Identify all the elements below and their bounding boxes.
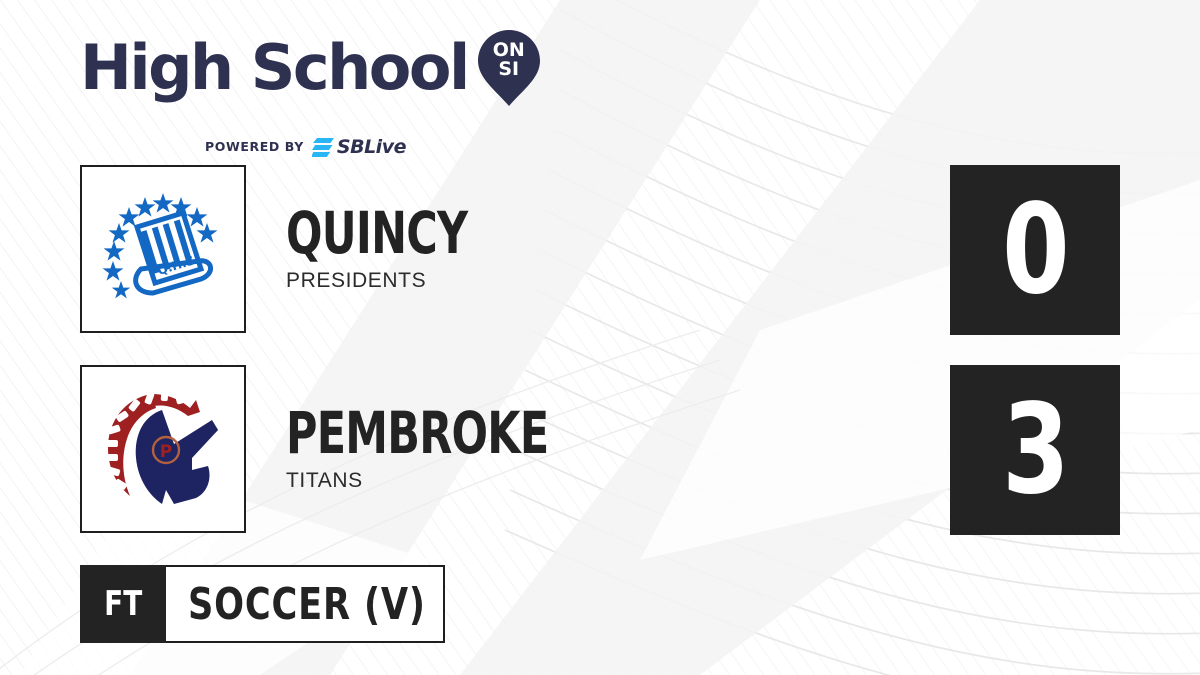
team-logo-quincy: Q.H.S. [80,165,246,333]
team-logo-pembroke: P [80,365,246,533]
team-info: QUINCY PRESIDENTS [286,165,531,333]
brand-header: High School ON SI POWERED BY SBLive [80,30,510,140]
team-info: PEMBROKE TITANS [286,365,641,533]
on-si-pin-icon: ON SI [478,30,540,106]
pin-label-si: SI [478,60,540,79]
team-mascot: PRESIDENTS [286,269,531,293]
status-badge-label: FT [104,584,142,624]
team-score-box: 0 [950,165,1120,335]
team-mascot: TITANS [286,469,641,493]
page-title: High School [80,37,468,99]
sport-label: SOCCER (V) [188,579,426,630]
sblive-logo: SBLive [312,138,406,157]
team-name: PEMBROKE [286,405,548,461]
powered-by: POWERED BY SBLive [205,137,406,157]
svg-text:P: P [160,442,172,462]
team-score-box: 3 [950,365,1120,535]
quincy-top-hat-logo-icon: Q.H.S. [97,183,229,315]
team-name: QUINCY [286,205,467,261]
sblive-wordmark: SBLive [337,138,406,157]
pembroke-titan-helmet-logo-icon: P [100,386,226,512]
game-status-bar: FT SOCCER (V) [80,565,445,643]
team-row: Q.H.S. QUINCY PRESIDENTS [80,165,940,335]
status-badge: FT [80,565,166,643]
scoreboard: High School ON SI POWERED BY SBLive [0,0,1200,675]
team-row: P PEMBROKE TITANS [80,365,940,535]
sport-label-panel: SOCCER (V) [166,565,445,643]
sblive-s-mark-icon [312,138,334,157]
team-score: 3 [1002,388,1068,512]
powered-by-label: POWERED BY [205,137,304,157]
team-score: 0 [1002,188,1068,312]
